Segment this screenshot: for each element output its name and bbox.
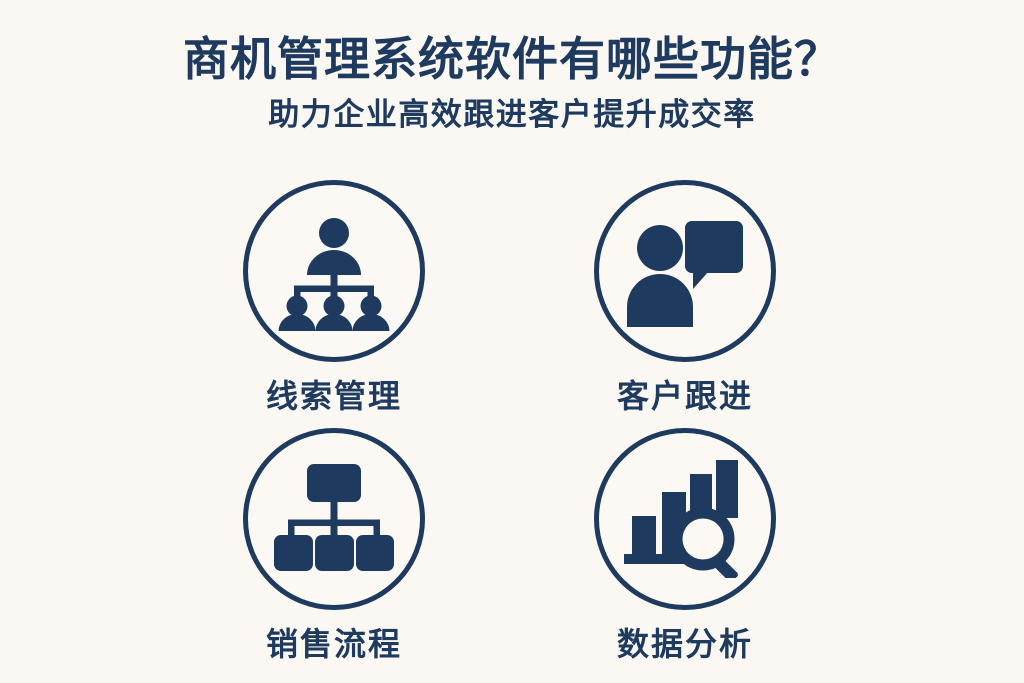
feature-icon-circle xyxy=(594,180,776,362)
feature-item-sales-process[interactable]: 销售流程 xyxy=(0,428,512,670)
org-chart-people-icon xyxy=(274,211,394,331)
person-speech-bubble-icon xyxy=(625,215,745,327)
feature-item-customer-follow-up[interactable]: 客户跟进 xyxy=(512,180,1024,428)
feature-item-data-analysis[interactable]: 数据分析 xyxy=(512,428,1024,670)
infographic-poster: 商机管理系统软件有哪些功能？ 助力企业高效跟进客户提升成交率 xyxy=(0,0,1024,683)
feature-icon-circle xyxy=(594,428,776,610)
feature-label-data-analysis: 数据分析 xyxy=(617,628,753,660)
feature-icon-circle xyxy=(243,180,425,362)
bar-chart-magnifier-icon xyxy=(624,460,746,578)
feature-label-sales-process: 销售流程 xyxy=(266,628,402,660)
page-subtitle: 助力企业高效跟进客户提升成交率 xyxy=(0,96,1024,133)
feature-label-customer-follow-up: 客户跟进 xyxy=(617,380,753,412)
poster-header: 商机管理系统软件有哪些功能？ 助力企业高效跟进客户提升成交率 xyxy=(0,34,1024,133)
flowchart-sitemap-icon xyxy=(274,464,394,574)
page-title: 商机管理系统软件有哪些功能？ xyxy=(0,34,1024,86)
feature-grid: 线索管理 客户跟进 xyxy=(0,180,1024,670)
feature-icon-circle xyxy=(243,428,425,610)
feature-item-lead-management[interactable]: 线索管理 xyxy=(0,180,512,428)
feature-label-lead-management: 线索管理 xyxy=(266,380,402,412)
